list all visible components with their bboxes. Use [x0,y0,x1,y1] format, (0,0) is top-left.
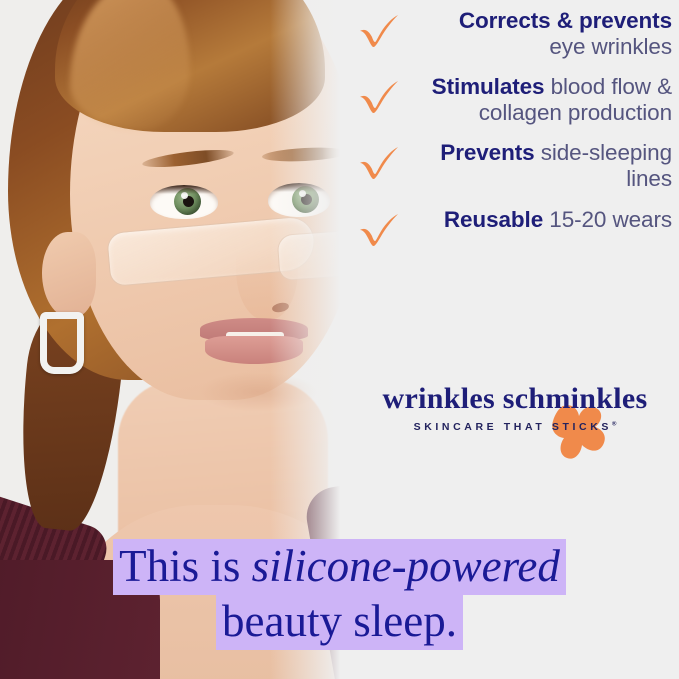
model-ear [42,232,96,318]
benefit-lead: Stimulates [432,74,545,99]
benefit-text: Prevents side-sleeping lines [404,140,676,192]
tagline-italic: silicone-powered [252,541,560,591]
benefit-lead: Prevents [440,140,534,165]
check-icon [358,207,404,249]
registered-mark: ® [612,422,616,428]
hero-tagline: This is silicone-powered beauty sleep. [0,540,679,650]
check-icon [358,140,404,182]
benefit-rest: eye wrinkles [549,34,672,59]
benefit-text: Reusable 15-20 wears [404,207,676,233]
tagline-line-1: This is silicone-powered [0,540,679,593]
check-icon [358,74,404,116]
tagline-line-2: beauty sleep. [0,595,679,648]
benefit-text: Stimulates blood flow & collagen product… [404,74,676,126]
lower-lip [205,336,303,364]
check-icon [358,8,404,50]
benefits-list: Corrects & prevents eye wrinkles Stimula… [358,8,676,263]
logo-tagline-text: SKINCARE THAT STICKS [414,421,612,433]
benefit-lead: Reusable [444,207,543,232]
benefit-rest: side-sleeping lines [535,140,672,191]
eye-left [150,185,218,219]
benefit-item: Corrects & prevents eye wrinkles [358,8,676,60]
hair-highlight [70,0,190,130]
benefit-text: Corrects & prevents eye wrinkles [404,8,676,60]
benefit-item: Prevents side-sleeping lines [358,140,676,192]
logo-tagline: SKINCARE THAT STICKS® [356,421,674,433]
silicone-eye-patch-far [277,229,360,281]
brand-logo: wrinkles schminkles SKINCARE THAT STICKS… [356,384,674,433]
benefit-rest: 15-20 wears [543,207,672,232]
tagline-line-2-highlight: beauty sleep. [216,594,463,650]
benefit-lead: Corrects & prevents [459,8,672,33]
tagline-line-1-highlight: This is silicone-powered [113,539,566,595]
benefit-item: Reusable 15-20 wears [358,207,676,249]
product-marketing-image: Corrects & prevents eye wrinkles Stimula… [0,0,679,679]
tagline-plain: This is [119,541,252,591]
benefit-item: Stimulates blood flow & collagen product… [358,74,676,126]
chin-shading [198,372,318,412]
silver-hoop-earring [40,312,84,374]
logo-wordmark: wrinkles schminkles [356,384,674,414]
eyelash-right [268,183,330,192]
eyelash-left [150,185,218,194]
